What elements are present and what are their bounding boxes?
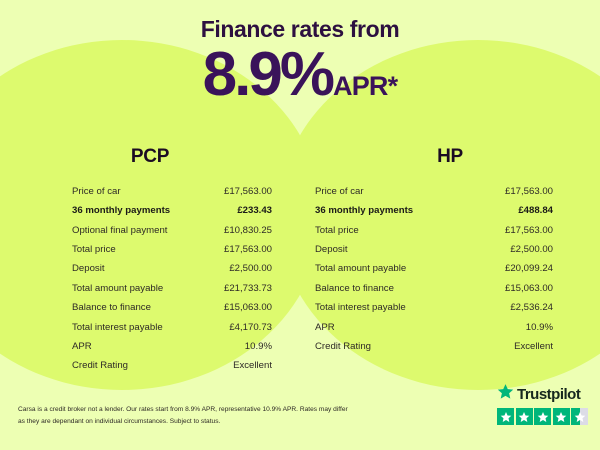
- row-value: £2,536.24: [510, 303, 553, 313]
- row-label: Optional final payment: [72, 226, 167, 236]
- row-label: Total price: [72, 245, 116, 255]
- table-row: Credit Rating Excellent: [72, 356, 272, 375]
- trustpilot-wordmark: Trustpilot: [517, 387, 580, 402]
- row-value: £233.43: [237, 206, 272, 216]
- row-label: Total interest payable: [72, 323, 163, 333]
- trustpilot-star-icon: [497, 383, 514, 405]
- table-row: Price of car £17,563.00: [315, 182, 553, 201]
- row-label: 36 monthly payments: [72, 206, 170, 216]
- row-label: Credit Rating: [315, 342, 371, 352]
- column-title-hp: HP: [347, 146, 553, 168]
- table-row: Total interest payable £4,170.73: [72, 318, 272, 337]
- table-row: APR 10.9%: [72, 337, 272, 356]
- rate-value: 8.9%: [203, 44, 332, 106]
- finance-column-hp: HP Price of car £17,563.00 36 monthly pa…: [300, 146, 600, 376]
- table-row: Total price £17,563.00: [315, 221, 553, 240]
- row-value: £15,063.00: [224, 303, 272, 313]
- table-row: APR 10.9%: [315, 318, 553, 337]
- table-row: Price of car £17,563.00: [72, 182, 272, 201]
- row-value: Excellent: [514, 342, 553, 352]
- row-label: Balance to finance: [315, 284, 394, 294]
- table-row: 36 monthly payments £488.84: [315, 201, 553, 220]
- row-value: 10.9%: [245, 342, 272, 352]
- row-label: APR: [72, 342, 92, 352]
- row-value: 10.9%: [526, 323, 553, 333]
- table-row: Optional final payment £10,830.25: [72, 221, 272, 240]
- table-row: 36 monthly payments £233.43: [72, 201, 272, 220]
- star-icon: [497, 408, 514, 425]
- row-label: Total amount payable: [72, 284, 163, 294]
- row-label: Balance to finance: [72, 303, 151, 313]
- table-row: Total amount payable £21,733.73: [72, 279, 272, 298]
- row-label: Total price: [315, 226, 359, 236]
- table-row: Total price £17,563.00: [72, 240, 272, 259]
- row-value: £15,063.00: [505, 284, 553, 294]
- row-label: Price of car: [72, 187, 121, 197]
- table-row: Total interest payable £2,536.24: [315, 298, 553, 317]
- row-value: £17,563.00: [505, 226, 553, 236]
- finance-column-pcp: PCP Price of car £17,563.00 36 monthly p…: [0, 146, 300, 376]
- row-value: £2,500.00: [510, 245, 553, 255]
- star-half-icon: [571, 408, 588, 425]
- row-label: Total amount payable: [315, 264, 406, 274]
- row-label: Deposit: [72, 264, 105, 274]
- rate-suffix: APR*: [333, 73, 397, 100]
- star-icon: [534, 408, 551, 425]
- row-value: £2,500.00: [229, 264, 272, 274]
- star-icon: [553, 408, 570, 425]
- row-value: £488.84: [518, 206, 553, 216]
- row-value: £17,563.00: [224, 187, 272, 197]
- headline-rate: 8.9% APR*: [0, 44, 600, 106]
- row-value: £10,830.25: [224, 226, 272, 236]
- row-label: APR: [315, 323, 335, 333]
- row-label: Deposit: [315, 245, 348, 255]
- table-row: Balance to finance £15,063.00: [315, 279, 553, 298]
- table-row: Deposit £2,500.00: [315, 240, 553, 259]
- disclaimer-text: Carsa is a credit broker not a lender. O…: [18, 404, 348, 427]
- finance-rates-poster: Finance rates from 8.9% APR* PCP Price o…: [0, 0, 600, 450]
- row-value: £17,563.00: [224, 245, 272, 255]
- table-row: Deposit £2,500.00: [72, 260, 272, 279]
- row-value: £17,563.00: [505, 187, 553, 197]
- row-value: £21,733.73: [224, 284, 272, 294]
- table-row: Total amount payable £20,099.24: [315, 260, 553, 279]
- page-title: Finance rates from: [0, 0, 600, 42]
- finance-comparison-columns: PCP Price of car £17,563.00 36 monthly p…: [0, 146, 600, 376]
- column-title-pcp: PCP: [28, 146, 272, 168]
- trustpilot-stars: [497, 408, 588, 425]
- star-icon: [516, 408, 533, 425]
- row-value: £20,099.24: [505, 264, 553, 274]
- row-value: £4,170.73: [229, 323, 272, 333]
- poster-header: Finance rates from 8.9% APR*: [0, 0, 600, 106]
- table-row: Credit Rating Excellent: [315, 337, 553, 356]
- trustpilot-brand: Trustpilot: [497, 383, 588, 405]
- row-label: 36 monthly payments: [315, 206, 413, 216]
- finance-rows-pcp: Price of car £17,563.00 36 monthly payme…: [72, 182, 272, 376]
- row-label: Credit Rating: [72, 361, 128, 371]
- table-row: Balance to finance £15,063.00: [72, 298, 272, 317]
- row-label: Price of car: [315, 187, 364, 197]
- row-value: Excellent: [233, 361, 272, 371]
- row-label: Total interest payable: [315, 303, 406, 313]
- finance-rows-hp: Price of car £17,563.00 36 monthly payme…: [315, 182, 553, 356]
- trustpilot-rating[interactable]: Trustpilot: [497, 383, 588, 425]
